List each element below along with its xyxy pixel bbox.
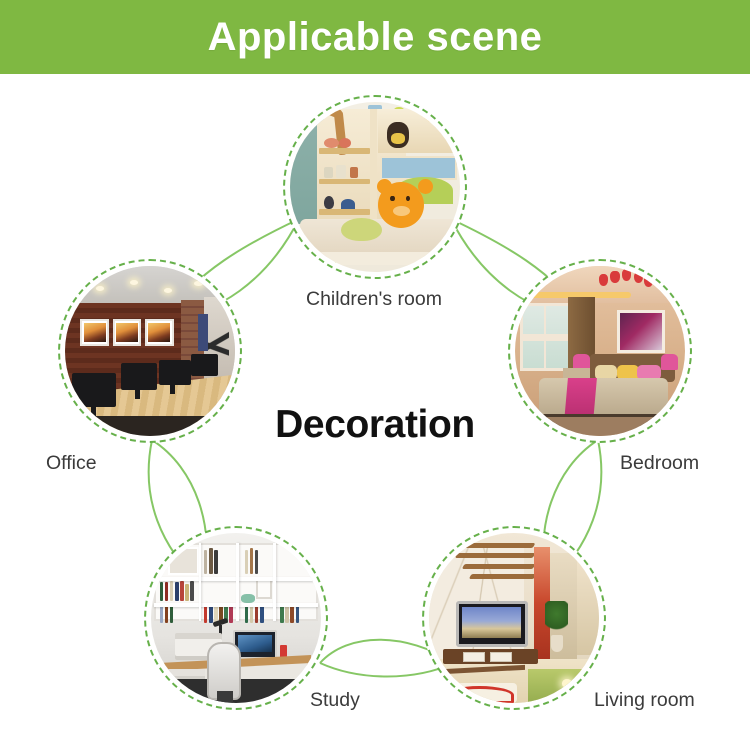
study-photo <box>151 533 321 703</box>
page-title: Applicable scene <box>208 17 543 57</box>
scene-label-living: Living room <box>594 691 695 711</box>
scene-label-study: Study <box>310 691 360 711</box>
scene-label-office: Office <box>46 454 97 474</box>
children-room-photo <box>290 102 460 272</box>
scene-diagram: Children's room <box>0 74 750 750</box>
scene-node-living[interactable] <box>422 526 606 710</box>
scene-node-study[interactable] <box>144 526 328 710</box>
living-room-photo <box>429 533 599 703</box>
dashed-ring-study <box>144 526 328 710</box>
scene-label-bedroom: Bedroom <box>620 454 699 474</box>
center-label: Decoration <box>0 405 750 444</box>
scene-label-children: Children's room <box>306 290 442 310</box>
dashed-ring-children <box>283 95 467 279</box>
dashed-ring-living <box>422 526 606 710</box>
page-header: Applicable scene <box>0 0 750 74</box>
scene-node-children[interactable] <box>283 95 467 279</box>
